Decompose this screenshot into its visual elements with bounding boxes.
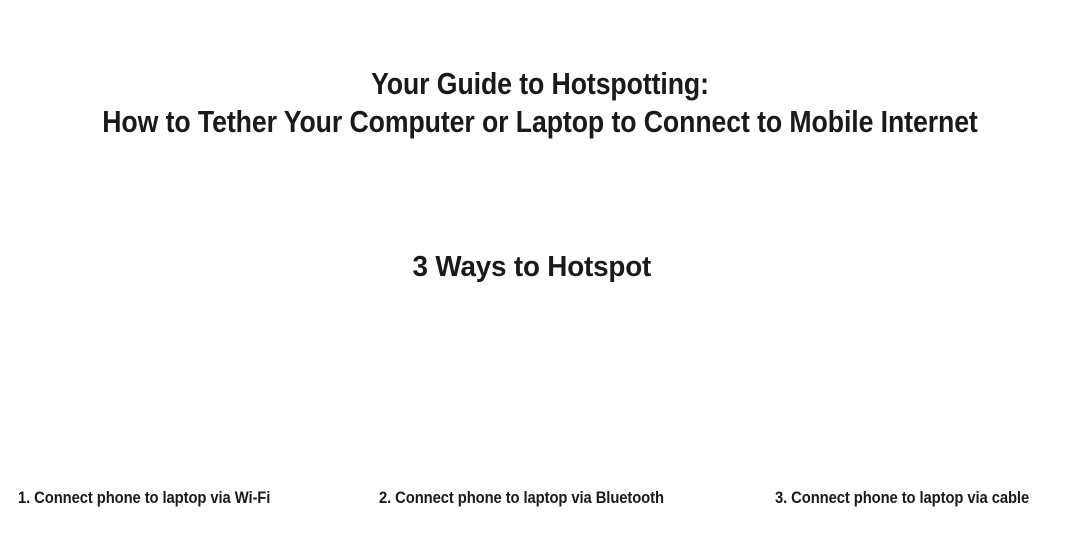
step-caption-3: 3. Connect phone to laptop via cable [775,487,1029,509]
step-image-1 [40,298,400,498]
step-caption-1: 1. Connect phone to laptop via Wi-Fi [18,487,270,509]
step-image-3 [760,298,1080,498]
article-page: Your Guide to Hotspotting: How to Tether… [0,0,1080,552]
page-title-line-2: How to Tether Your Computer or Laptop to… [76,103,1005,141]
steps-image-row [0,282,1080,482]
steps-caption-row: 1. Connect phone to laptop via Wi-Fi 2. … [0,487,1080,513]
step-caption-2: 2. Connect phone to laptop via Bluetooth [379,487,664,509]
step-image-2 [400,298,760,498]
page-title: Your Guide to Hotspotting: How to Tether… [76,65,1005,141]
page-title-line-1: Your Guide to Hotspotting: [76,65,1005,103]
section-heading: 3 Ways to Hotspot [0,248,1064,286]
step-figure-3 [760,298,1080,498]
step-figure-1 [40,298,400,498]
step-figure-2 [400,298,760,498]
